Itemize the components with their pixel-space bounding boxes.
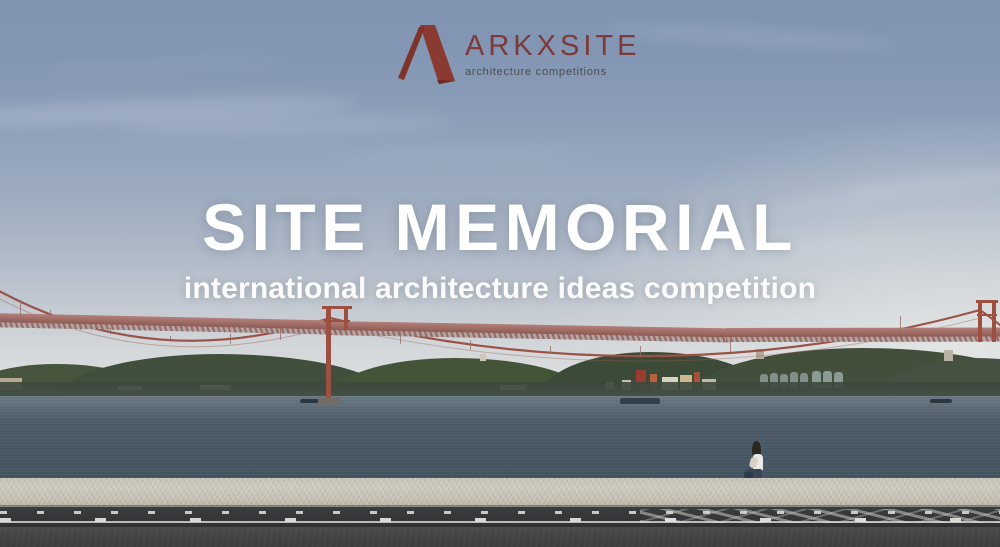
bridge-hanger — [900, 316, 901, 334]
bridge-tower-leg — [992, 300, 996, 342]
bridge-hanger — [400, 332, 401, 344]
bridge-hanger — [820, 328, 821, 342]
road-dash-markings — [0, 511, 1000, 514]
bridge-hanger — [280, 326, 281, 340]
road-edge-line — [0, 521, 1000, 523]
bridge-hanger — [170, 336, 171, 342]
foreground-texture — [0, 527, 1000, 547]
arkxsite-a-mark-icon — [393, 24, 459, 86]
bridge-tower-crossbeam — [977, 314, 997, 316]
bridge-hanger — [640, 346, 641, 356]
logo-text-block: ARKXSITE architecture competitions — [465, 24, 640, 78]
bridge-hanger — [550, 346, 551, 354]
poster-canvas: ARKXSITE architecture competitions SITE … — [0, 0, 1000, 547]
page-subtitle: international architecture ideas competi… — [0, 274, 1000, 304]
bridge-tower-leg — [344, 306, 348, 330]
page-title: SITE MEMORIAL — [0, 194, 1000, 260]
bridge-tower-leg — [978, 300, 982, 342]
logo-wordmark: ARKXSITE — [465, 32, 640, 61]
bridge-pier — [318, 398, 340, 405]
bridge-tower-crossbeam — [324, 320, 350, 322]
bridge-hanger — [110, 328, 111, 334]
bridge-tower-crossbeam — [322, 306, 352, 309]
bridge-hanger — [730, 340, 731, 352]
bridge-hanger — [230, 334, 231, 344]
bridge-hanger — [80, 320, 81, 330]
arkxsite-logo[interactable]: ARKXSITE architecture competitions — [393, 24, 625, 86]
embankment-wall — [0, 478, 1000, 508]
bridge-deck — [726, 327, 1000, 337]
bridge-hanger — [50, 310, 51, 326]
person-sitting-on-wall — [744, 441, 770, 479]
bridge-hanger — [470, 340, 471, 350]
logo-tagline: architecture competitions — [465, 67, 640, 78]
